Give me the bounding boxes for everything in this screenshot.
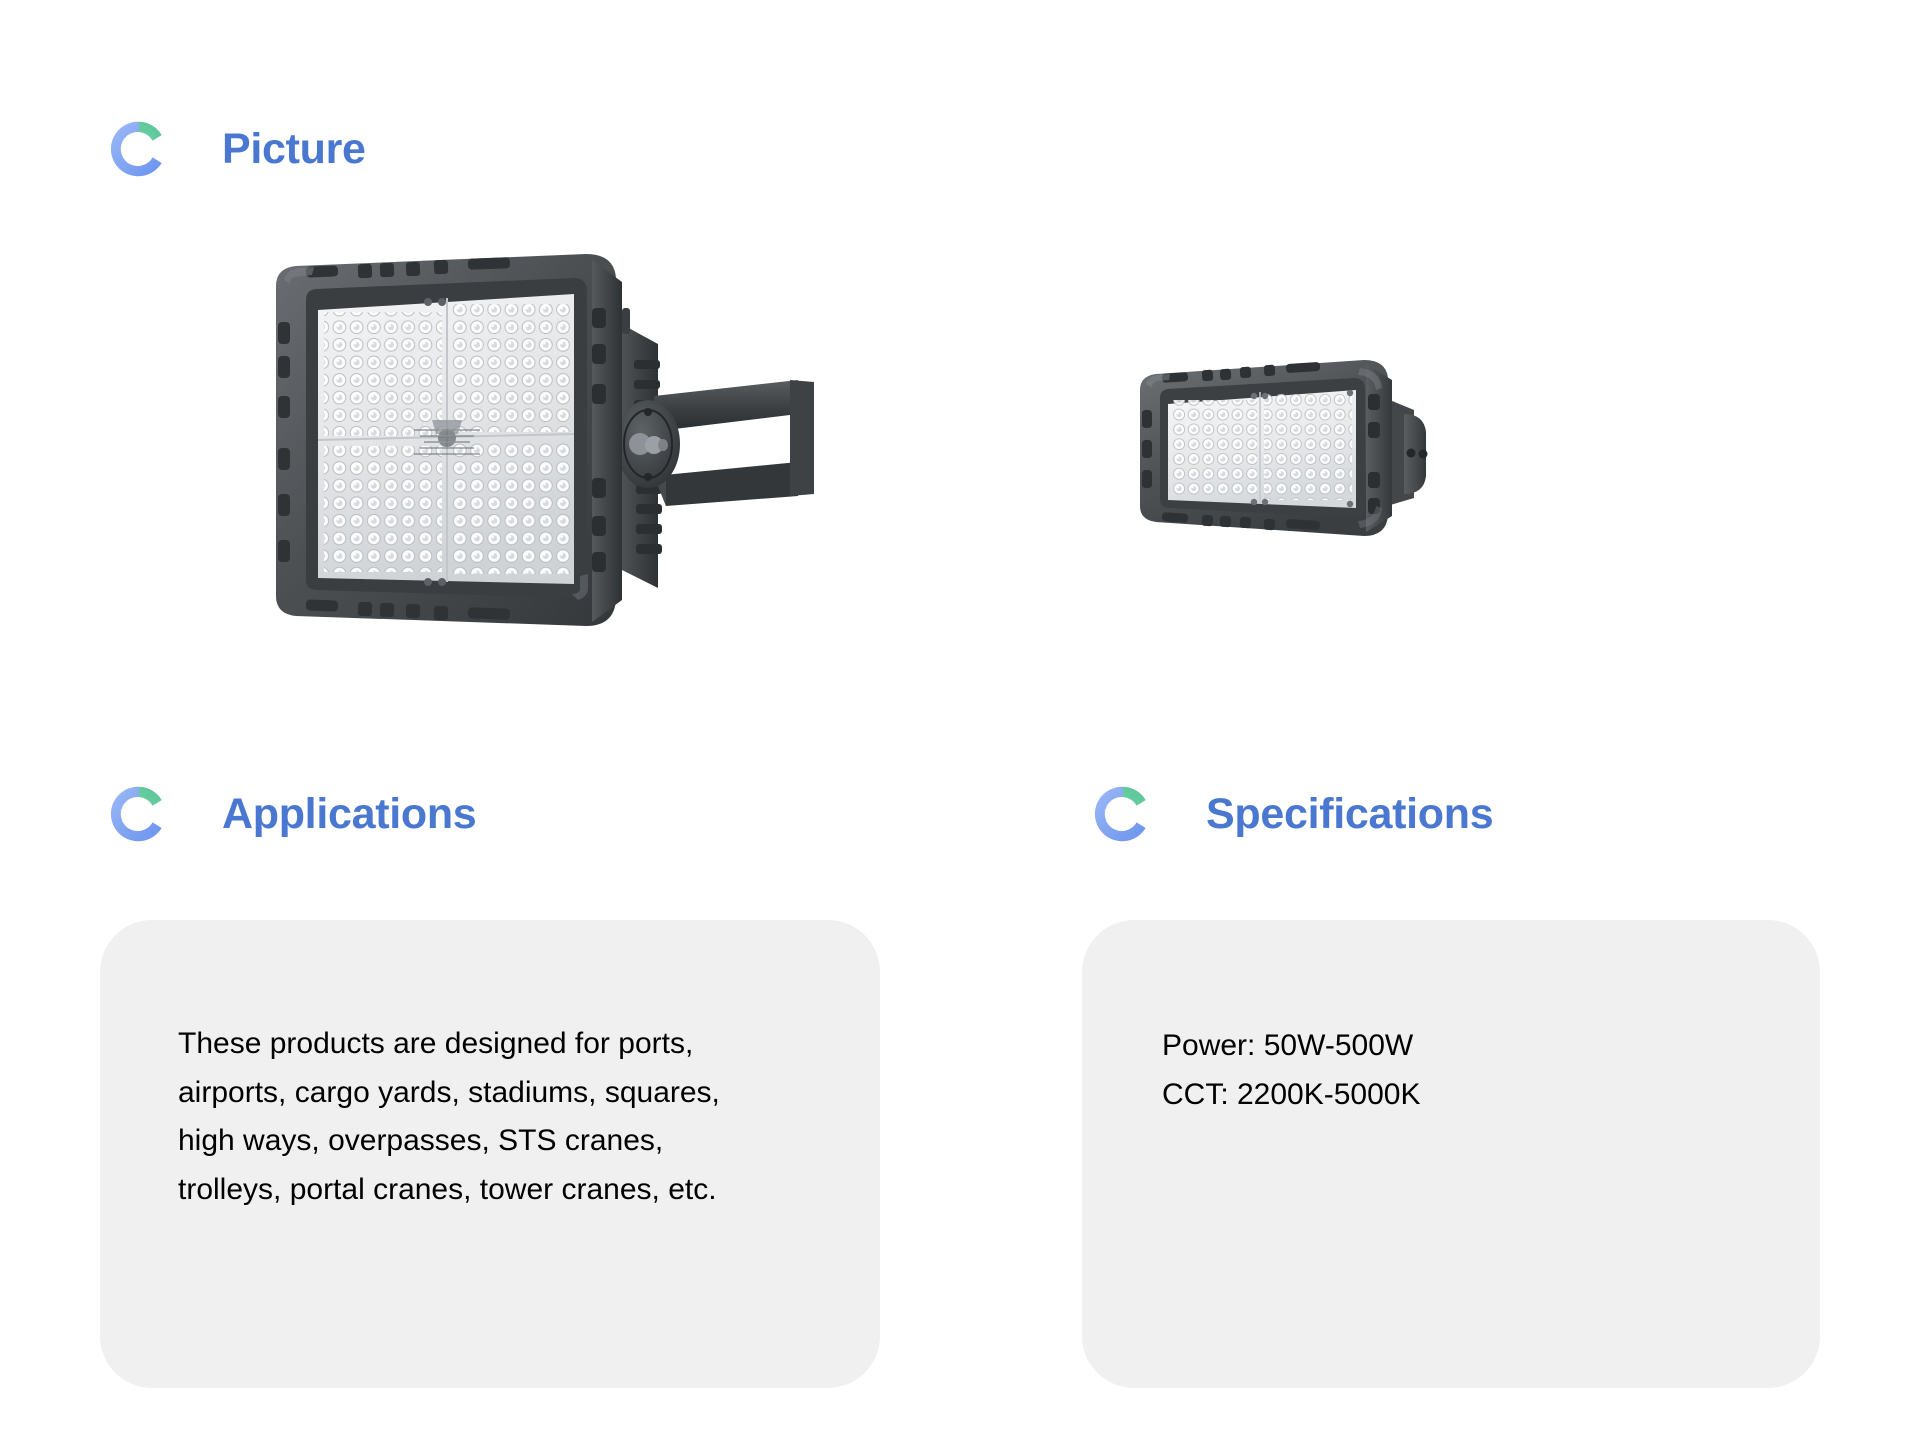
section-title-specifications: Specifications bbox=[1206, 793, 1493, 836]
specifications-text: Power: 50W-500W CCT: 2200K-5000K bbox=[1162, 1022, 1762, 1119]
brand-c-logo bbox=[108, 783, 170, 845]
section-header-applications: Applications bbox=[108, 783, 476, 845]
brand-c-logo bbox=[1092, 783, 1154, 845]
section-header-picture: Picture bbox=[108, 118, 366, 180]
specifications-card: Power: 50W-500W CCT: 2200K-5000K bbox=[1082, 920, 1820, 1388]
section-header-specifications: Specifications bbox=[1092, 783, 1493, 845]
applications-text: These products are designed for ports, a… bbox=[178, 1020, 818, 1214]
applications-card: These products are designed for ports, a… bbox=[100, 920, 880, 1388]
small-led-flood-module-image bbox=[1128, 348, 1528, 548]
section-title-applications: Applications bbox=[222, 793, 476, 836]
large-led-floodlight-image bbox=[262, 248, 822, 648]
brand-c-logo bbox=[108, 118, 170, 180]
section-title-picture: Picture bbox=[222, 128, 366, 171]
